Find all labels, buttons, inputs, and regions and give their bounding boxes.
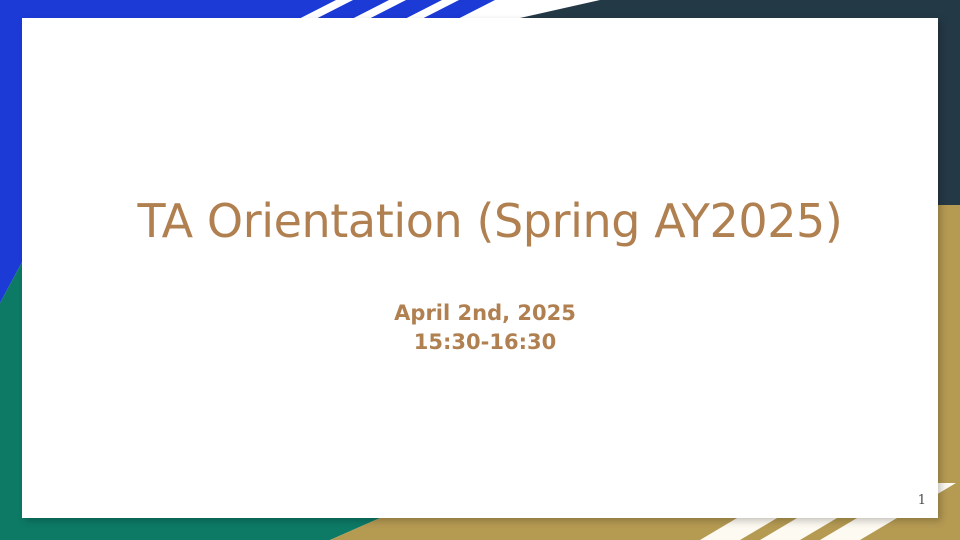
presentation-slide: TA Orientation (Spring AY2025) April 2nd… — [0, 0, 960, 540]
slide-content-card — [22, 18, 938, 518]
slide-page-number: 1 — [918, 494, 926, 507]
